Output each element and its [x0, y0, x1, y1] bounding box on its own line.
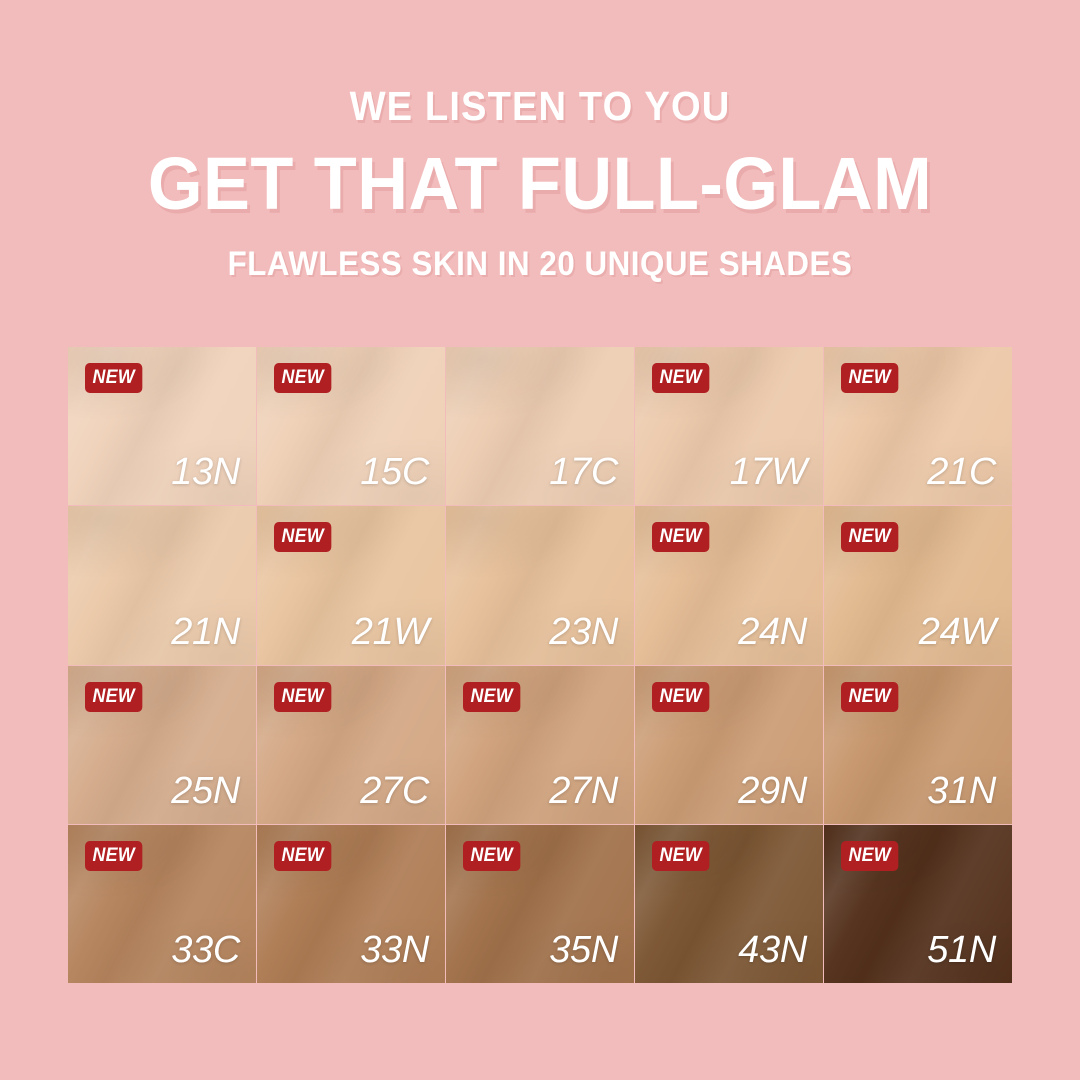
new-badge: NEW	[841, 363, 898, 393]
shade-swatch[interactable]: 23N	[446, 506, 634, 664]
shade-swatch[interactable]: NEW24N	[635, 506, 823, 664]
page-title: GET THAT FULL-GLAM	[27, 147, 1053, 221]
shade-label: 27C	[360, 772, 429, 810]
new-badge: NEW	[274, 522, 331, 552]
header-block: WE LISTEN TO YOU GET THAT FULL-GLAM FLAW…	[0, 0, 1080, 281]
shade-swatch[interactable]: NEW15C	[257, 347, 445, 505]
shade-label: 17C	[549, 453, 618, 491]
shade-grid: NEW13NNEW15C17CNEW17WNEW21C21NNEW21W23NN…	[68, 347, 1012, 983]
new-badge: NEW	[274, 841, 331, 871]
shade-swatch[interactable]: NEW27N	[446, 666, 634, 824]
shade-swatch[interactable]: NEW21W	[257, 506, 445, 664]
new-badge: NEW	[463, 682, 520, 712]
eyebrow-text: WE LISTEN TO YOU	[38, 86, 1042, 127]
shade-swatch[interactable]: 21N	[68, 506, 256, 664]
new-badge: NEW	[652, 363, 709, 393]
new-badge: NEW	[274, 363, 331, 393]
shade-swatch[interactable]: NEW33C	[68, 825, 256, 983]
new-badge: NEW	[274, 682, 331, 712]
shade-label: 13N	[171, 453, 240, 491]
new-badge: NEW	[841, 841, 898, 871]
new-badge: NEW	[85, 682, 142, 712]
shade-label: 35N	[549, 931, 618, 969]
shade-label: 21C	[927, 453, 996, 491]
shade-label: 24N	[738, 613, 807, 651]
new-badge: NEW	[85, 841, 142, 871]
shade-swatch[interactable]: NEW29N	[635, 666, 823, 824]
shade-swatch[interactable]: NEW21C	[824, 347, 1012, 505]
shade-label: 33C	[171, 931, 240, 969]
shade-swatch[interactable]: NEW33N	[257, 825, 445, 983]
shade-swatch[interactable]: NEW51N	[824, 825, 1012, 983]
shade-label: 23N	[549, 613, 618, 651]
new-badge: NEW	[841, 522, 898, 552]
new-badge: NEW	[463, 841, 520, 871]
new-badge: NEW	[652, 522, 709, 552]
shade-label: 31N	[927, 772, 996, 810]
shade-label: 24W	[919, 613, 996, 651]
new-badge: NEW	[652, 841, 709, 871]
new-badge: NEW	[85, 363, 142, 393]
promo-banner: WE LISTEN TO YOU GET THAT FULL-GLAM FLAW…	[0, 0, 1080, 1080]
shade-swatch[interactable]: NEW35N	[446, 825, 634, 983]
shade-label: 25N	[171, 772, 240, 810]
shade-swatch[interactable]: NEW31N	[824, 666, 1012, 824]
shade-label: 17W	[730, 453, 807, 491]
new-badge: NEW	[841, 682, 898, 712]
shade-label: 21N	[171, 613, 240, 651]
shade-swatch[interactable]: NEW25N	[68, 666, 256, 824]
shade-swatch[interactable]: NEW13N	[68, 347, 256, 505]
shade-label: 29N	[738, 772, 807, 810]
shade-label: 15C	[360, 453, 429, 491]
shade-label: 27N	[549, 772, 618, 810]
shade-swatch[interactable]: 17C	[446, 347, 634, 505]
shade-swatch[interactable]: NEW24W	[824, 506, 1012, 664]
shade-label: 33N	[360, 931, 429, 969]
shade-label: 21W	[352, 613, 429, 651]
new-badge: NEW	[652, 682, 709, 712]
shade-swatch[interactable]: NEW17W	[635, 347, 823, 505]
subtitle-text: FLAWLESS SKIN IN 20 UNIQUE SHADES	[43, 247, 1037, 281]
shade-label: 43N	[738, 931, 807, 969]
shade-label: 51N	[927, 931, 996, 969]
shade-swatch[interactable]: NEW27C	[257, 666, 445, 824]
shade-swatch[interactable]: NEW43N	[635, 825, 823, 983]
